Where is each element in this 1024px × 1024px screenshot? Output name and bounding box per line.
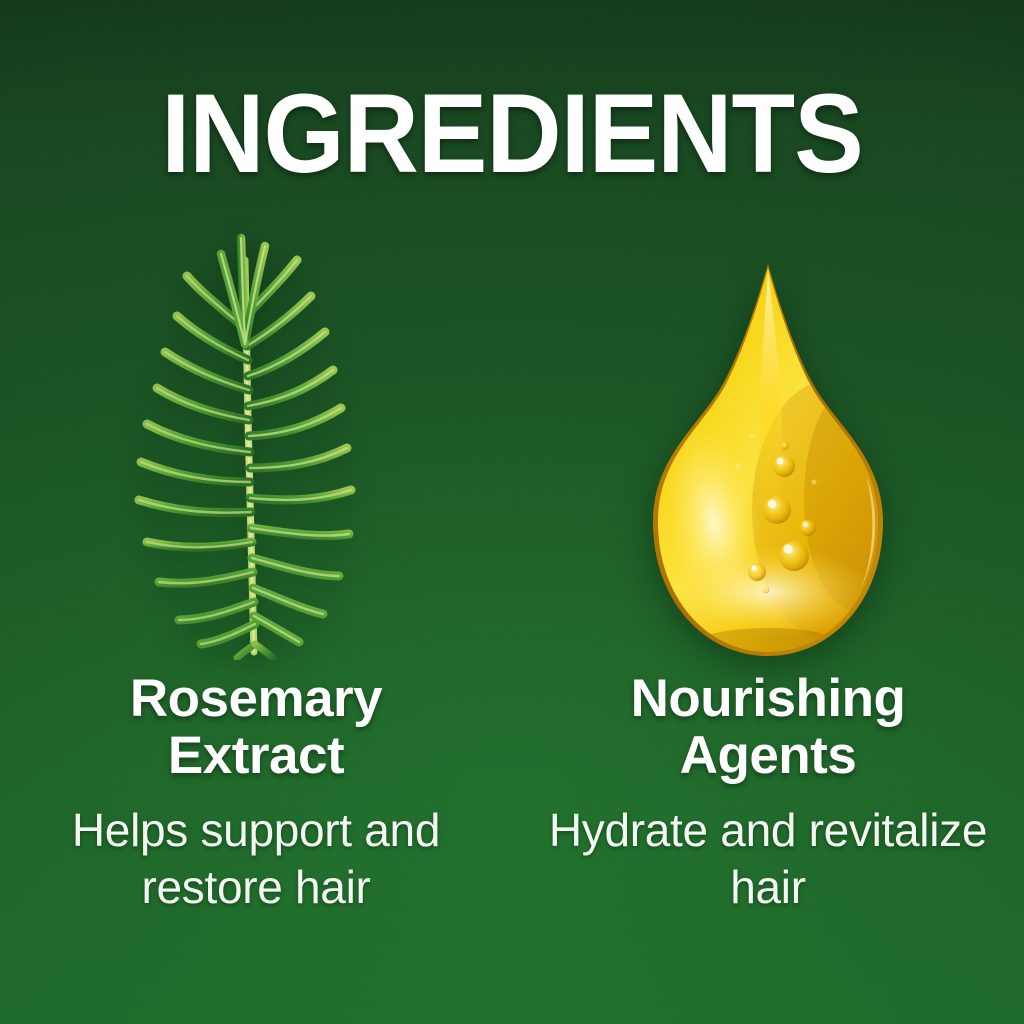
rosemary-sprig-icon: [91, 220, 421, 660]
ingredient-description: Hydrate and revitalize hair: [548, 802, 988, 916]
page-title: INGREDIENTS: [36, 78, 988, 190]
ingredient-card-rosemary: Rosemary Extract Helps support and resto…: [0, 205, 512, 995]
ingredient-heading: Nourishing Agents: [553, 670, 983, 784]
ingredients-poster: INGREDIENTS: [0, 0, 1024, 1024]
ingredient-card-nourishing: Nourishing Agents Hydrate and revitalize…: [512, 205, 1024, 995]
ingredient-columns: Rosemary Extract Helps support and resto…: [0, 205, 1024, 995]
rosemary-art: [0, 205, 512, 660]
oil-droplet-art: [512, 205, 1024, 660]
ingredient-description: Helps support and restore hair: [36, 802, 476, 916]
oil-droplet-icon: [618, 260, 918, 660]
ingredient-heading: Rosemary Extract: [41, 670, 471, 784]
